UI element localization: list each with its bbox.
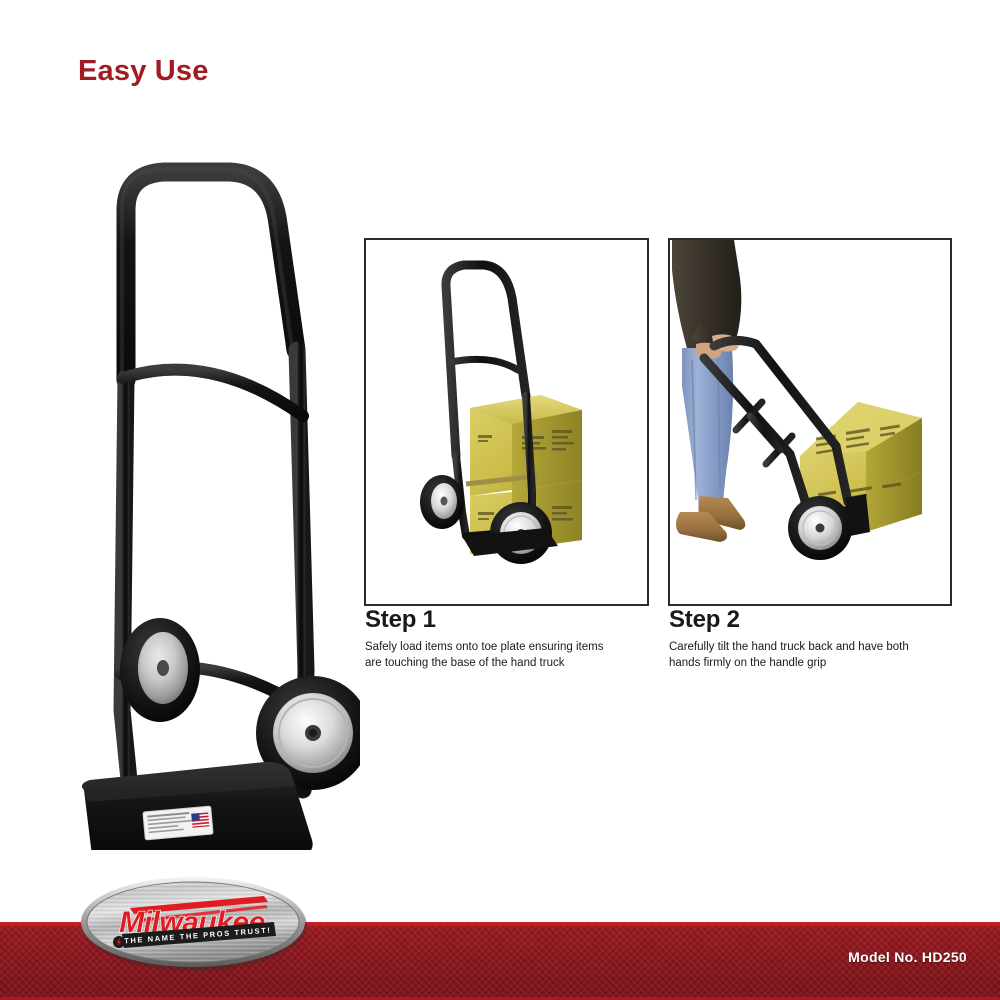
step-1-description: Safely load items onto toe plate ensurin…: [365, 640, 615, 671]
page-root: Easy Use: [0, 0, 1000, 1000]
toe-plate: [82, 762, 313, 850]
step-2-graphic: [670, 240, 946, 600]
step-1-image-panel: [364, 238, 649, 606]
step-2-description: Carefully tilt the hand truck back and h…: [669, 640, 919, 671]
st2-toe-plate: [846, 494, 870, 536]
us-flag-icon: [191, 812, 209, 827]
st2-wheel: [788, 496, 852, 560]
wheel-rear: [120, 618, 200, 722]
milwaukee-brand-badge: Milwaukee THE NAME THE PROS TRUST!: [78, 872, 310, 973]
step-2-heading: Step 2: [669, 608, 740, 632]
page-title: Easy Use: [78, 57, 209, 86]
hero-product-image: [60, 150, 360, 850]
hand-truck-graphic: [60, 150, 360, 850]
st1-wheel-rear: [420, 475, 464, 529]
step-2-image-panel: [668, 238, 952, 606]
left-rail: [122, 378, 130, 790]
milwaukee-logo: Milwaukee THE NAME THE PROS TRUST!: [78, 872, 310, 973]
lightning-bolt-icon: [113, 936, 125, 948]
model-number-label: Model No. HD250: [848, 949, 967, 965]
product-spec-label: [143, 806, 213, 840]
step-1-graphic: [366, 240, 643, 600]
step-1-heading: Step 1: [365, 608, 436, 632]
upper-crossbar: [123, 370, 303, 416]
